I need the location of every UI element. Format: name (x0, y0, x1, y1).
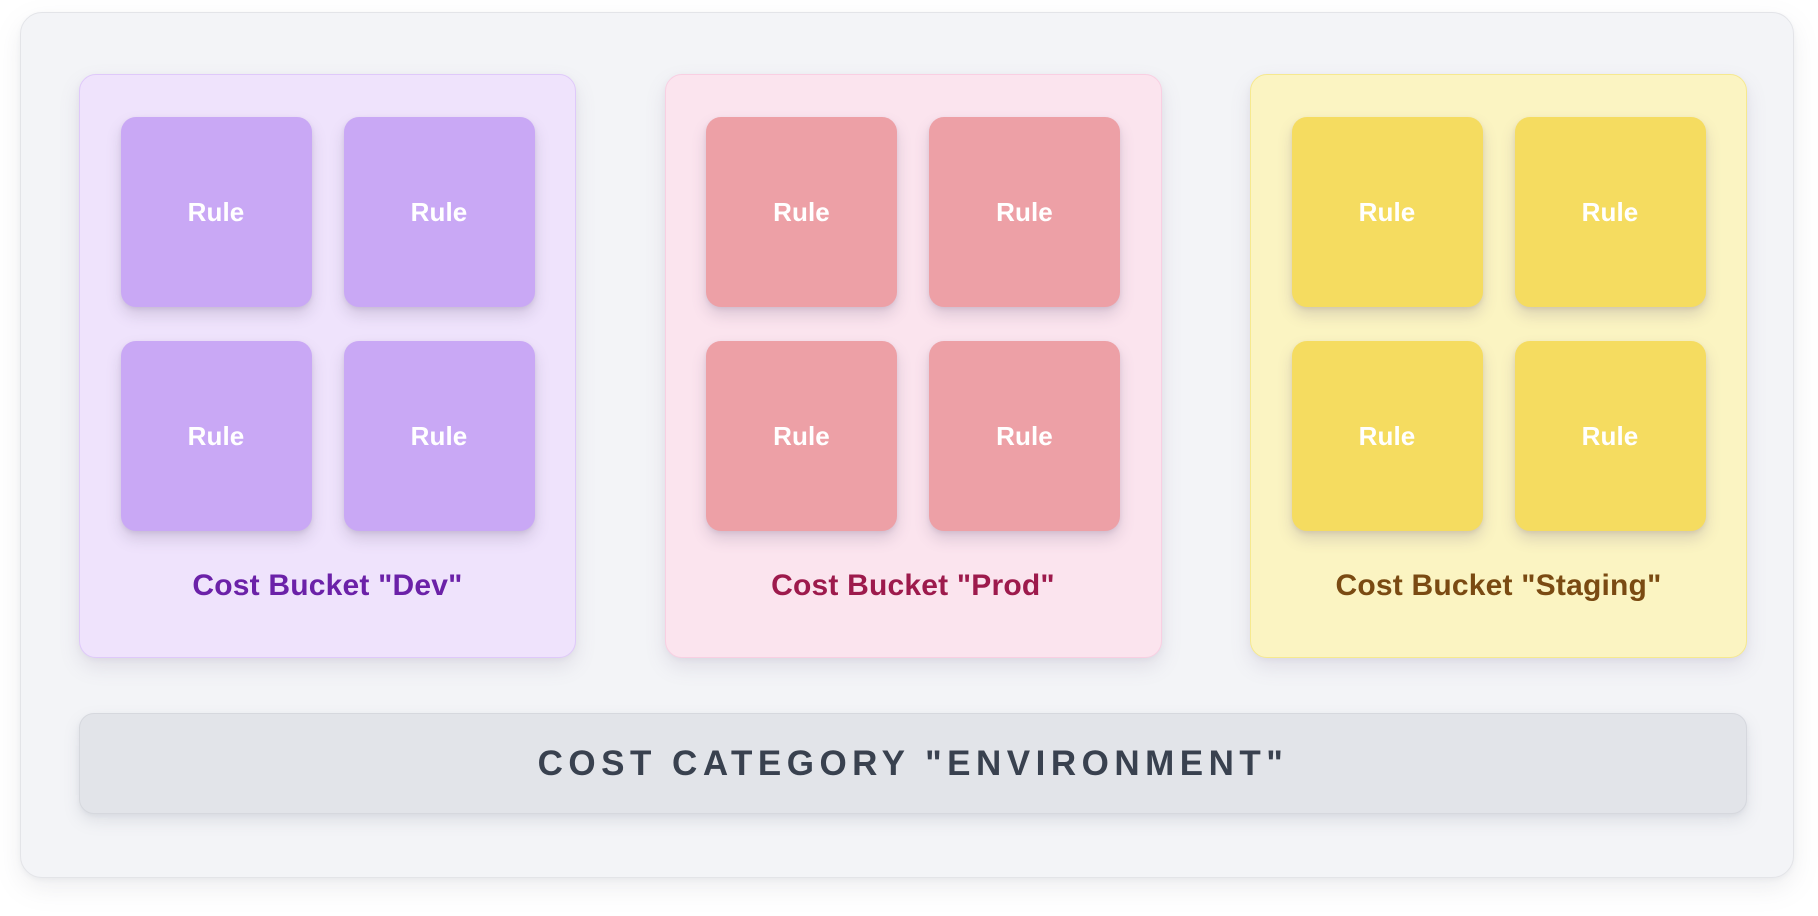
rule-tile[interactable]: Rule (344, 117, 535, 307)
rule-tile[interactable]: Rule (121, 117, 312, 307)
rule-grid-prod: Rule Rule Rule Rule (706, 117, 1120, 531)
cost-category-bar[interactable]: COST CATEGORY "ENVIRONMENT" (79, 713, 1747, 814)
rule-tile[interactable]: Rule (121, 341, 312, 531)
rule-tile[interactable]: Rule (929, 341, 1120, 531)
rule-tile[interactable]: Rule (1515, 117, 1706, 307)
cost-bucket-label-prod: Cost Bucket "Prod" (771, 569, 1055, 603)
cost-bucket-label-dev: Cost Bucket "Dev" (192, 569, 462, 603)
rule-grid-dev: Rule Rule Rule Rule (121, 117, 535, 531)
rule-grid-staging: Rule Rule Rule Rule (1292, 117, 1706, 531)
rule-tile[interactable]: Rule (706, 117, 897, 307)
cost-bucket-label-staging: Cost Bucket "Staging" (1335, 569, 1661, 603)
cost-bucket-prod[interactable]: Rule Rule Rule Rule Cost Bucket "Prod" (665, 74, 1162, 658)
rule-tile[interactable]: Rule (1292, 341, 1483, 531)
cost-bucket-dev[interactable]: Rule Rule Rule Rule Cost Bucket "Dev" (79, 74, 576, 658)
rule-tile[interactable]: Rule (929, 117, 1120, 307)
rule-tile[interactable]: Rule (1515, 341, 1706, 531)
cost-category-diagram-frame: Rule Rule Rule Rule Cost Bucket "Dev" Ru… (20, 12, 1794, 878)
rule-tile[interactable]: Rule (344, 341, 535, 531)
rule-tile[interactable]: Rule (1292, 117, 1483, 307)
cost-bucket-staging[interactable]: Rule Rule Rule Rule Cost Bucket "Staging… (1250, 74, 1747, 658)
cost-buckets-row: Rule Rule Rule Rule Cost Bucket "Dev" Ru… (79, 74, 1747, 658)
rule-tile[interactable]: Rule (706, 341, 897, 531)
cost-category-title: COST CATEGORY "ENVIRONMENT" (538, 744, 1289, 784)
